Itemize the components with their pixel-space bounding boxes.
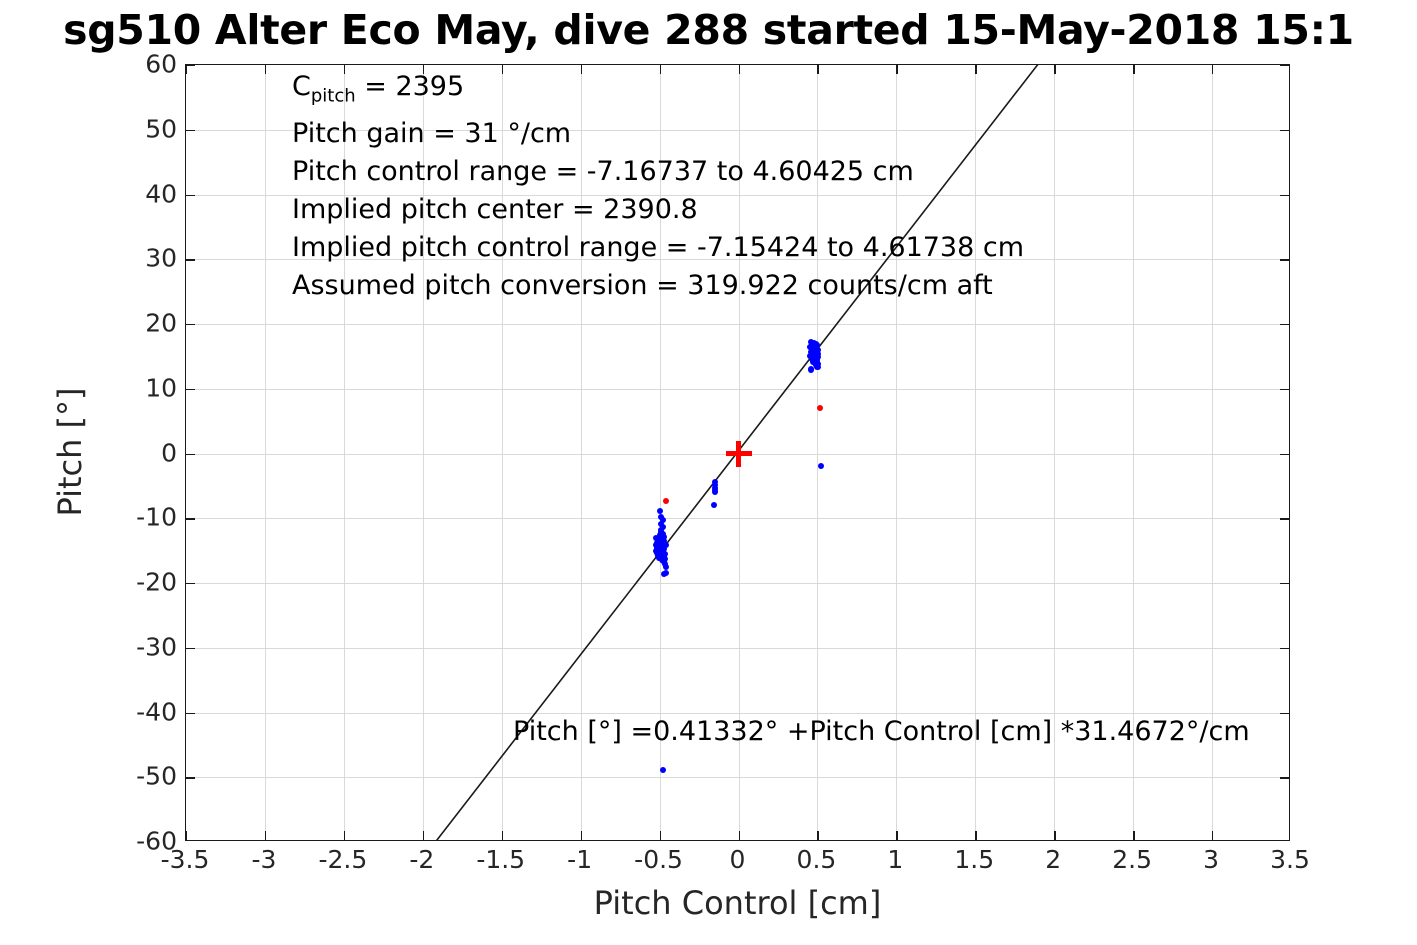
x-axis-tick-label: 0.5 — [797, 845, 837, 874]
y-axis-tick-label: -30 — [136, 632, 177, 661]
figure-canvas: sg510 Alter Eco May, dive 288 started 15… — [0, 0, 1417, 945]
annotation-line-pitch-control-range: Pitch control range = -7.16737 to 4.6042… — [292, 153, 1024, 191]
y-axis-tick-label: -50 — [136, 762, 177, 791]
parameter-annotation: Cpitch = 2395 Pitch gain = 31 °/cm Pitch… — [292, 68, 1024, 305]
page-title: sg510 Alter Eco May, dive 288 started 15… — [63, 2, 1354, 58]
cpitch-symbol: C — [292, 71, 311, 102]
y-axis-tick-label: 30 — [145, 244, 177, 273]
x-axis-tick-label: 1.5 — [954, 845, 994, 874]
x-axis-tick-label: 2 — [1045, 845, 1061, 874]
x-axis-tick-label: -0.5 — [634, 845, 683, 874]
x-axis-tick-label: 2.5 — [1112, 845, 1152, 874]
x-axis-tick-label: 1 — [887, 845, 903, 874]
y-axis-tick-label: 60 — [145, 50, 177, 79]
annotation-line-implied-control-range: Implied pitch control range = -7.15424 t… — [292, 229, 1024, 267]
y-axis-label: Pitch [°] — [51, 387, 89, 516]
annotation-line-cpitch: Cpitch = 2395 — [292, 68, 1024, 115]
x-axis-tick-label: 0 — [730, 845, 746, 874]
x-axis-label: Pitch Control [cm] — [185, 884, 1290, 922]
cpitch-value: = 2395 — [356, 71, 465, 102]
y-axis-tick-label: 20 — [145, 309, 177, 338]
regression-equation: Pitch [°] =0.41332° +Pitch Control [cm] … — [513, 716, 1250, 747]
y-axis-tick-label: 0 — [161, 438, 177, 467]
cpitch-subscript: pitch — [311, 85, 356, 106]
y-axis-tick-label: 10 — [145, 373, 177, 402]
y-axis-tick-label: 40 — [145, 179, 177, 208]
y-axis-tick-label: -40 — [136, 697, 177, 726]
x-axis-tick-label: 3.5 — [1270, 845, 1310, 874]
x-axis-tick-label: -3 — [251, 845, 276, 874]
annotation-line-pitch-gain: Pitch gain = 31 °/cm — [292, 115, 1024, 153]
x-axis-tick-label: -1.5 — [476, 845, 525, 874]
annotation-line-implied-pitch-center: Implied pitch center = 2390.8 — [292, 191, 1024, 229]
x-axis-tick-label: -2 — [409, 845, 434, 874]
x-axis-tick-label: -1 — [567, 845, 592, 874]
y-axis-tick-label: -20 — [136, 568, 177, 597]
x-axis-tick-label: -2.5 — [318, 845, 367, 874]
y-axis-tick-label: -60 — [136, 827, 177, 856]
y-axis-tick-label: 50 — [145, 114, 177, 143]
x-axis-tick-label: 3 — [1203, 845, 1219, 874]
annotation-line-pitch-conversion: Assumed pitch conversion = 319.922 count… — [292, 267, 1024, 305]
y-axis-tick-label: -10 — [136, 503, 177, 532]
